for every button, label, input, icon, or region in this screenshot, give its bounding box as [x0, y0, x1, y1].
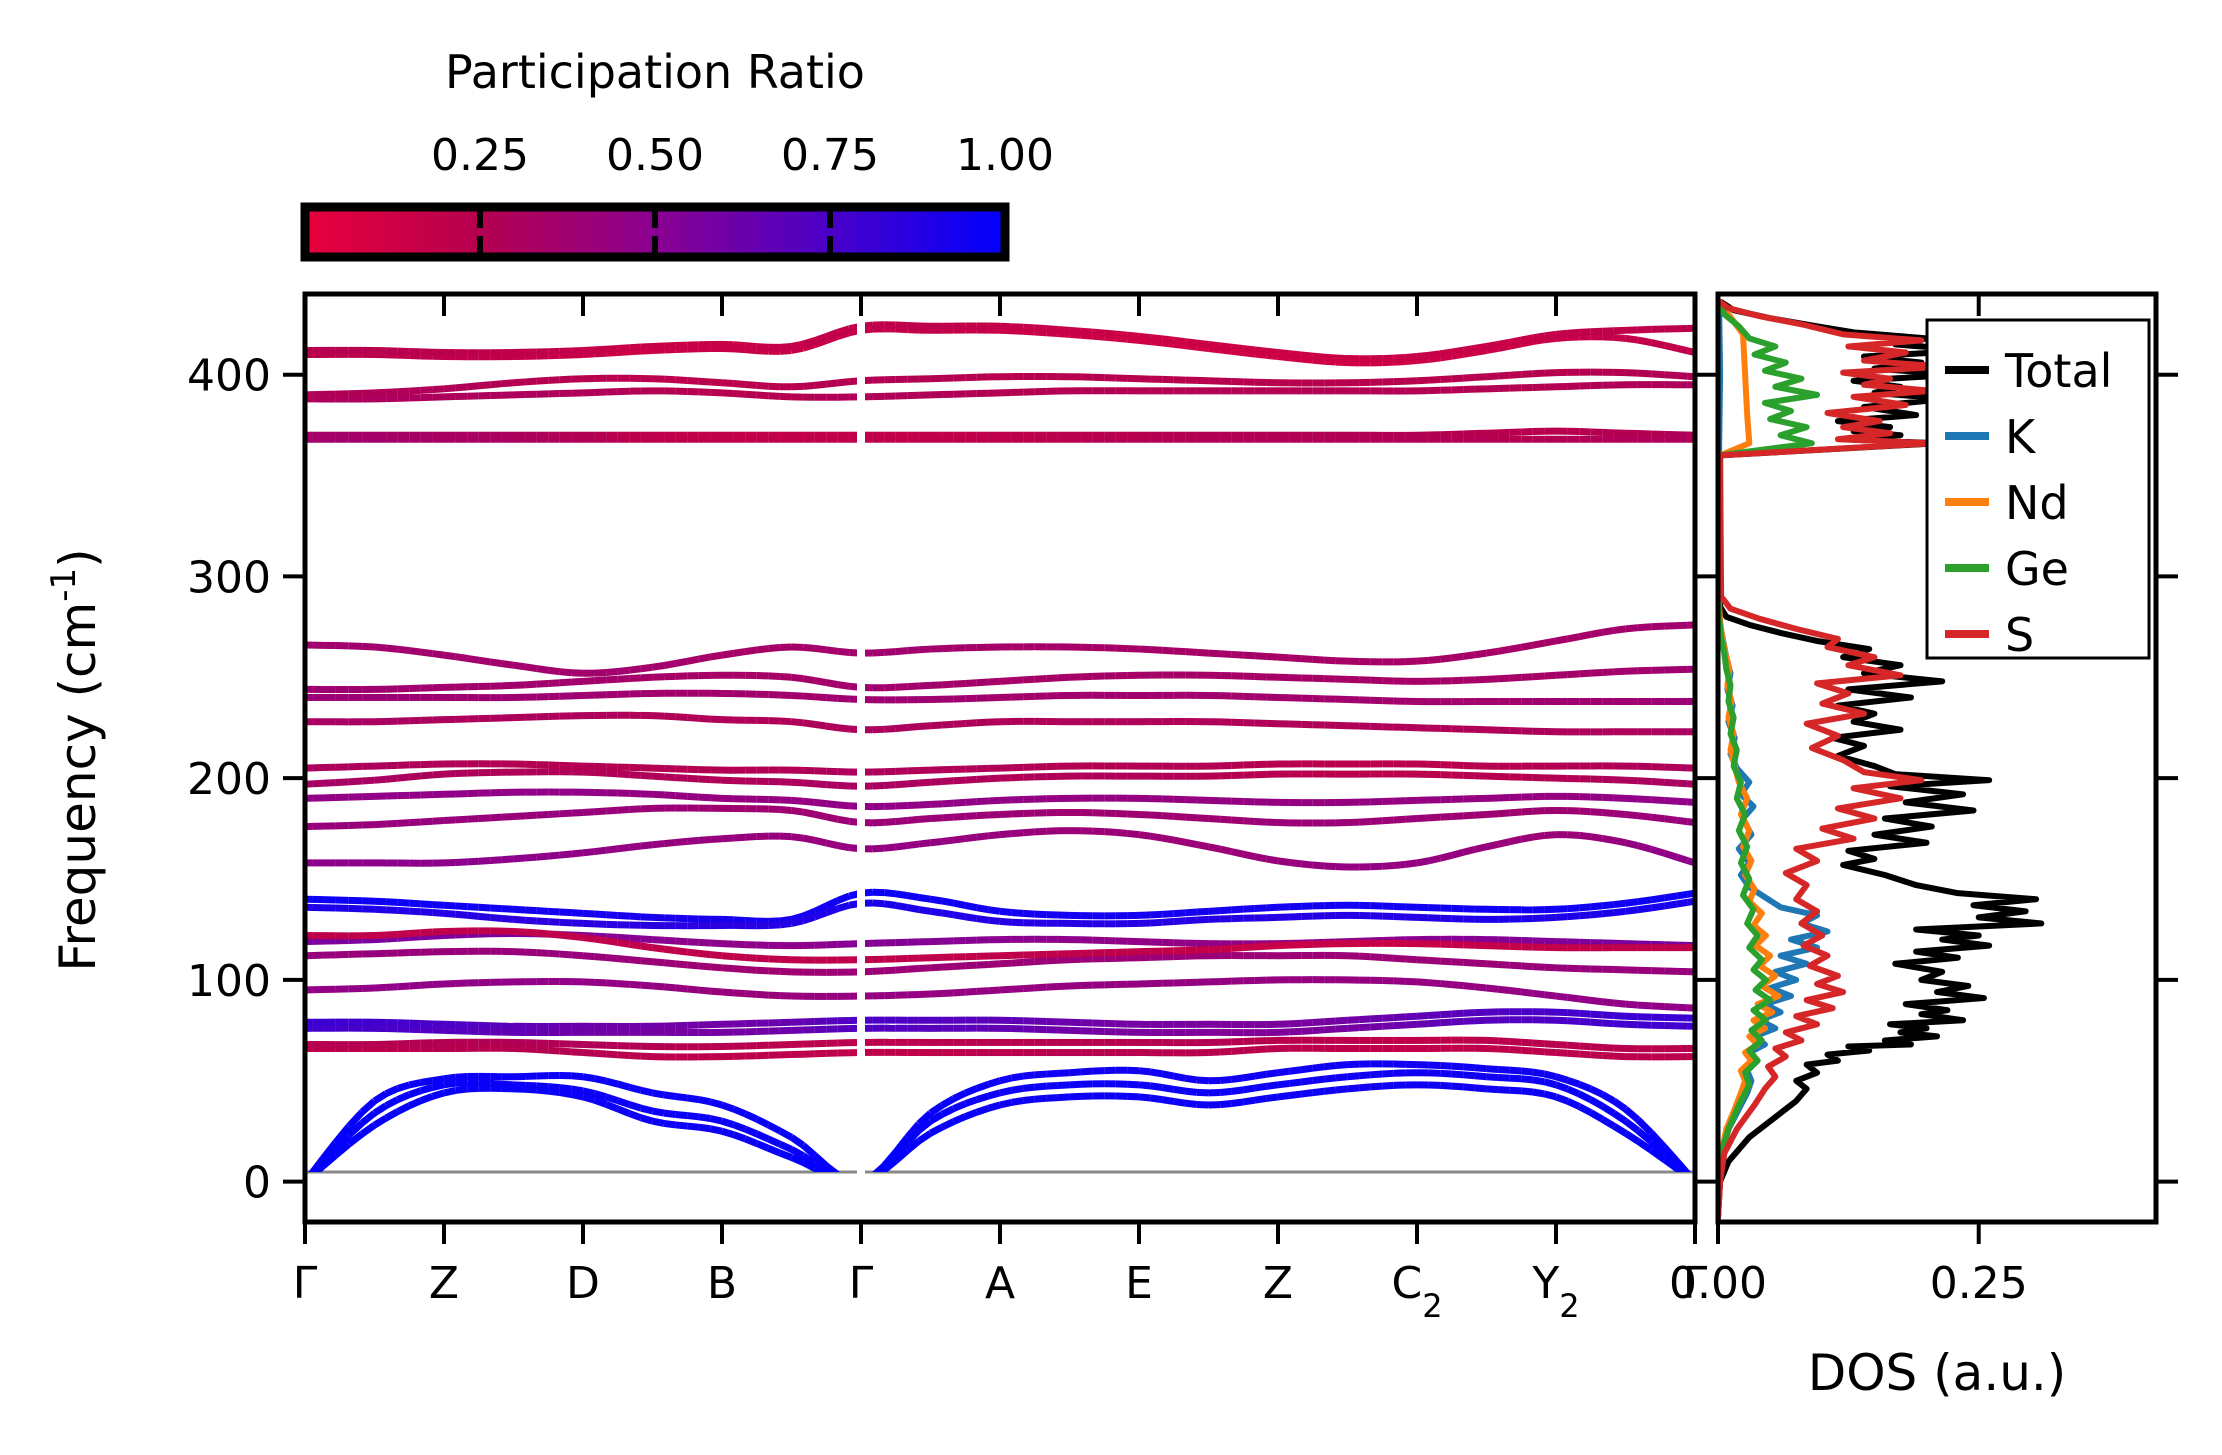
- band-segment: [1475, 963, 1487, 964]
- band-segment: [734, 1125, 746, 1129]
- band-segment: [838, 896, 850, 901]
- band-segment: [375, 647, 387, 648]
- band-segment: [1521, 1042, 1533, 1043]
- band-segment: [965, 991, 977, 992]
- band-segment: [1521, 811, 1533, 812]
- band-segment: [1151, 650, 1163, 651]
- band-segment: [1255, 656, 1267, 657]
- band-segment: [745, 384, 757, 385]
- band-segment: [467, 386, 479, 387]
- legend-label-ge: Ge: [2005, 542, 2069, 596]
- band-segment: [1266, 907, 1278, 908]
- band-segment: [1070, 330, 1082, 331]
- band-segment: [954, 915, 966, 917]
- band-segment: [1290, 1094, 1302, 1095]
- band-segment: [1665, 904, 1677, 906]
- band-segment: [1429, 983, 1441, 984]
- band-segment: [826, 650, 838, 651]
- band-segment: [954, 903, 966, 905]
- band-segment: [1382, 820, 1394, 821]
- band-segment: [977, 779, 989, 780]
- band-segment: [583, 938, 595, 939]
- band-segment: [1638, 1005, 1651, 1006]
- band-segment: [757, 347, 769, 348]
- band-segment: [432, 984, 444, 985]
- band-segment: [1035, 987, 1047, 988]
- band-segment: [734, 957, 746, 958]
- band-segment: [525, 684, 537, 685]
- band-segment: [757, 1143, 769, 1148]
- band-segment: [1139, 835, 1151, 837]
- band-segment: [1255, 1098, 1267, 1100]
- band-segment: [780, 1153, 792, 1157]
- band-segment: [595, 1100, 607, 1104]
- band-segment: [1591, 1022, 1603, 1023]
- band-segment: [467, 819, 479, 820]
- band-segment: [1556, 1077, 1568, 1081]
- band-segment: [444, 655, 456, 657]
- band-segment: [560, 379, 572, 380]
- band-segment: [1058, 986, 1070, 987]
- band-segment: [514, 909, 526, 910]
- band-segment: [1070, 1096, 1082, 1097]
- band-segment: [1429, 817, 1441, 818]
- band-segment: [1417, 960, 1429, 961]
- band-segment: [1626, 780, 1638, 781]
- band-segment: [1278, 353, 1290, 354]
- band-segment: [1348, 1088, 1360, 1089]
- band-segment: [1463, 377, 1475, 378]
- band-segment: [409, 822, 421, 823]
- band-segment: [571, 681, 583, 682]
- band-segment: [1417, 982, 1429, 983]
- band-segment: [896, 687, 908, 688]
- band-segment: [1463, 348, 1475, 350]
- band-segment: [1510, 1070, 1522, 1071]
- band-segment: [409, 933, 421, 934]
- band-segment: [1058, 329, 1070, 330]
- band-segment: [1475, 987, 1487, 988]
- band-segment: [444, 1077, 456, 1079]
- band-segment: [977, 908, 989, 910]
- legend-label-s: S: [2005, 608, 2034, 662]
- band-segment: [548, 1087, 560, 1088]
- band-segment: [1475, 1076, 1487, 1077]
- band-segment: [514, 665, 526, 667]
- band-segment: [375, 901, 387, 902]
- band-segment: [907, 783, 919, 784]
- band-segment: [1185, 1091, 1197, 1092]
- band-segment: [409, 390, 421, 391]
- band-segment: [1510, 1050, 1522, 1051]
- band-segment: [1023, 832, 1035, 833]
- band-segment: [1185, 1103, 1197, 1104]
- band-segment: [687, 952, 699, 953]
- band-segment: [595, 914, 607, 915]
- band-segment: [931, 725, 943, 726]
- band-segment: [595, 349, 607, 350]
- band-segment: [676, 380, 688, 381]
- band-segment: [398, 910, 410, 911]
- band-segment: [583, 1077, 595, 1079]
- band-segment: [1487, 344, 1499, 346]
- band-segment: [1023, 679, 1035, 680]
- band-segment: [432, 821, 444, 822]
- band-segment: [606, 937, 618, 938]
- band-segment: [1521, 677, 1533, 678]
- dos-x-tick-label: 0.25: [1930, 1258, 2028, 1309]
- band-segment: [1626, 814, 1638, 815]
- band-segment: [664, 795, 676, 796]
- band-segment: [560, 1088, 572, 1089]
- band-segment: [1487, 1089, 1499, 1090]
- band-segment: [606, 810, 618, 811]
- band-segment: [1452, 852, 1464, 855]
- band-segment: [664, 949, 676, 950]
- band-segment: [1197, 1080, 1209, 1081]
- band-segment: [1568, 1101, 1580, 1106]
- band-segment: [1429, 1015, 1441, 1016]
- band-segment: [1394, 864, 1406, 865]
- band-segment: [1544, 1052, 1556, 1053]
- band-segment: [618, 809, 630, 810]
- band-segment: [687, 942, 699, 943]
- band-segment: [710, 382, 722, 383]
- band-segment: [1220, 819, 1232, 820]
- band-segment: [838, 329, 850, 333]
- band-segment: [1429, 858, 1441, 861]
- band-segment: [606, 983, 618, 984]
- band-segment: [1510, 374, 1522, 375]
- band-segment: [1046, 1073, 1058, 1074]
- band-segment: [1093, 332, 1105, 333]
- band-segment: [1510, 647, 1522, 649]
- band-segment: [803, 838, 815, 840]
- band-segment: [1417, 380, 1429, 381]
- band-segment: [467, 1088, 479, 1089]
- band-segment: [514, 685, 526, 686]
- band-segment: [444, 388, 456, 389]
- band-segment: [1278, 861, 1290, 863]
- band-segment: [1336, 1028, 1348, 1029]
- band-segment: [1139, 336, 1151, 337]
- band-segment: [1510, 677, 1522, 678]
- band-segment: [456, 906, 468, 907]
- band-segment: [490, 917, 502, 918]
- band-segment: [803, 679, 815, 681]
- band-segment: [803, 917, 815, 921]
- band-segment: [1220, 910, 1232, 911]
- band-segment: [1665, 626, 1677, 627]
- band-segment: [1232, 820, 1244, 821]
- band-segment: [1440, 1014, 1452, 1015]
- band-segment: [1023, 962, 1035, 963]
- band-segment: [1046, 960, 1058, 961]
- band-segment: [942, 913, 954, 915]
- band-segment: [768, 648, 780, 649]
- band-segment: [734, 384, 746, 385]
- band-segment: [1544, 334, 1556, 336]
- band-segment: [1440, 1073, 1452, 1074]
- band-segment: [1602, 1002, 1614, 1003]
- band-segment: [710, 798, 722, 799]
- band-segment: [1429, 659, 1441, 660]
- band-segment: [745, 969, 757, 970]
- band-segment: [954, 839, 966, 840]
- band-segment: [1475, 679, 1487, 680]
- band-segment: [1000, 1078, 1012, 1081]
- band-segment: [768, 995, 780, 996]
- band-segment: [1104, 333, 1116, 334]
- band-segment: [1046, 678, 1058, 679]
- band-segment: [560, 813, 572, 814]
- band-segment: [583, 1097, 595, 1100]
- colorbar-tick-label: 0.25: [431, 130, 529, 181]
- band-segment: [803, 812, 815, 814]
- band-segment: [421, 985, 433, 986]
- band-segment: [571, 955, 583, 956]
- band-segment: [664, 963, 676, 964]
- band-segment: [977, 1108, 989, 1112]
- band-segment: [1174, 651, 1186, 652]
- band-segment: [803, 385, 815, 386]
- band-segment: [965, 1112, 977, 1116]
- band-segment: [687, 659, 699, 661]
- band-segment: [1591, 906, 1603, 907]
- band-segment: [1197, 911, 1209, 912]
- band-segment: [335, 782, 348, 783]
- band-segment: [757, 970, 769, 971]
- band-segment: [1232, 852, 1244, 855]
- dos-x-tick-label: 0.00: [1669, 1258, 1767, 1309]
- band-segment: [722, 956, 734, 957]
- band-segment: [490, 817, 502, 818]
- band-segment: [1463, 815, 1475, 816]
- band-ylabel: Frequency (cm-1): [44, 548, 107, 971]
- band-segment: [687, 1126, 699, 1127]
- band-segment: [421, 652, 433, 654]
- band-segment: [1533, 373, 1545, 374]
- band-segment: [1405, 819, 1417, 820]
- band-segment: [1498, 989, 1510, 990]
- band-segment: [1440, 984, 1452, 985]
- band-segment: [792, 722, 804, 723]
- band-segment: [1185, 842, 1197, 844]
- band-segment: [1359, 1087, 1371, 1088]
- band-segment: [571, 1076, 583, 1077]
- band-segment: [1232, 1102, 1244, 1104]
- band-segment: [988, 800, 1000, 801]
- band-x-tick-label: B: [707, 1258, 737, 1309]
- band-segment: [1475, 1088, 1487, 1089]
- band-segment: [803, 647, 815, 648]
- band-segment: [618, 1084, 630, 1087]
- band-segment: [525, 910, 537, 911]
- band-segment: [1463, 1087, 1475, 1088]
- band-segment: [1533, 1043, 1545, 1044]
- band-segment: [1371, 957, 1383, 958]
- band-segment: [1521, 1050, 1533, 1051]
- band-segment: [362, 780, 374, 781]
- band-segment: [1243, 1088, 1255, 1090]
- band-segment: [571, 673, 583, 674]
- band-segment: [1336, 358, 1348, 359]
- band-segment: [919, 819, 931, 820]
- band-segment: [815, 384, 827, 385]
- band-segment: [1023, 1075, 1035, 1076]
- band-segment: [710, 780, 722, 781]
- band-segment: [1665, 800, 1677, 801]
- band-segment: [873, 652, 885, 653]
- band-segment: [954, 992, 966, 993]
- band-segment: [1677, 801, 1687, 802]
- band-segment: [456, 914, 468, 915]
- band-segment: [1012, 327, 1024, 328]
- band-segment: [641, 917, 653, 918]
- band-segment: [502, 383, 514, 384]
- band-segment: [977, 1084, 989, 1088]
- band-segment: [1591, 1047, 1603, 1048]
- band-segment: [931, 841, 943, 842]
- band-segment: [1440, 658, 1452, 659]
- band-segment: [1429, 960, 1441, 961]
- band-segment: [710, 967, 722, 968]
- band-segment: [896, 325, 908, 326]
- band-segment: [1614, 1016, 1626, 1017]
- band-segment: [1544, 995, 1556, 996]
- band-segment: [1023, 1099, 1035, 1100]
- band-segment: [931, 911, 943, 913]
- band-segment: [1579, 1054, 1591, 1055]
- band-segment: [768, 959, 780, 960]
- band-segment: [456, 1083, 468, 1084]
- band-segment: [1301, 1068, 1313, 1070]
- band-segment: [1521, 645, 1533, 647]
- band-segment: [1174, 1076, 1186, 1078]
- band-segment: [490, 1083, 502, 1084]
- band-segment: [896, 651, 908, 652]
- band-segment: [490, 908, 502, 909]
- band-segment: [1591, 1055, 1603, 1056]
- band-segment: [479, 861, 491, 862]
- band-segment: [1452, 350, 1464, 352]
- band-segment: [548, 911, 560, 912]
- band-segment: [1313, 1030, 1325, 1031]
- band-segment: [710, 1102, 722, 1105]
- band-segment: [687, 718, 699, 719]
- band-segment: [1151, 338, 1163, 339]
- band-segment: [653, 350, 665, 351]
- band-segment: [1568, 1053, 1580, 1054]
- band-segment: [479, 1083, 491, 1084]
- band-segment: [687, 796, 699, 797]
- band-segment: [606, 1081, 618, 1084]
- band-segment: [641, 961, 653, 962]
- band-segment: [1665, 819, 1677, 821]
- band-segment: [1556, 1053, 1568, 1054]
- band-segment: [1209, 911, 1221, 912]
- band-segment: [583, 350, 595, 351]
- band-segment: [722, 1121, 734, 1125]
- band-segment: [942, 803, 954, 804]
- band-segment: [583, 852, 595, 853]
- band-x-tick-label: Γ: [849, 1258, 874, 1309]
- band-segment: [1602, 1056, 1614, 1057]
- band-segment: [838, 805, 850, 806]
- band-segment: [641, 946, 653, 948]
- band-segment: [919, 843, 931, 844]
- band-segment: [942, 901, 954, 903]
- band-segment: [629, 669, 641, 670]
- band-segment: [1440, 817, 1452, 818]
- band-segment: [699, 381, 711, 382]
- band-segment: [931, 782, 943, 783]
- band-segment: [896, 329, 908, 330]
- band-segment: [1313, 1079, 1325, 1080]
- band-segment: [606, 1104, 618, 1109]
- band-segment: [641, 667, 653, 669]
- band-segment: [977, 919, 989, 921]
- band-segment: [1243, 821, 1255, 822]
- band-segment: [595, 982, 607, 983]
- band-segment: [710, 1119, 722, 1122]
- band-segment: [803, 341, 815, 345]
- band-segment: [1487, 1069, 1499, 1070]
- band-segment: [1521, 1079, 1533, 1080]
- band-x-tick-label: Γ: [293, 1258, 318, 1309]
- band-segment: [1162, 922, 1174, 923]
- band-segment: [1626, 798, 1638, 799]
- band-segment: [1290, 658, 1302, 659]
- band-segment: [1498, 813, 1510, 814]
- band-segment: [525, 1049, 537, 1050]
- band-segment: [1035, 961, 1047, 962]
- band-segment: [1405, 357, 1417, 358]
- band-segment: [734, 652, 746, 654]
- band-segment: [1602, 672, 1614, 673]
- band-segment: [641, 1118, 653, 1121]
- band-segment: [1359, 956, 1371, 957]
- band-segment: [641, 985, 653, 986]
- band-segment: [1348, 1076, 1360, 1077]
- band-segment: [1429, 1065, 1441, 1066]
- band-segment: [1452, 1074, 1464, 1075]
- band-segment: [664, 1113, 676, 1114]
- band-segment: [965, 917, 977, 919]
- band-segment: [734, 1109, 746, 1114]
- band-segment: [780, 810, 792, 811]
- band-segment: [502, 909, 514, 910]
- band-segment: [479, 818, 491, 819]
- band-segment: [826, 804, 838, 805]
- band-segment: [1568, 1089, 1580, 1094]
- band-segment: [1665, 896, 1677, 898]
- band-segment: [1568, 908, 1580, 909]
- band-segment: [919, 685, 931, 686]
- band-x-tick-label: A: [985, 1258, 1015, 1309]
- band-segment: [1035, 328, 1047, 329]
- band-segment: [1602, 337, 1614, 338]
- band-segment: [710, 943, 722, 944]
- band-segment: [444, 1090, 456, 1092]
- band-segment: [1162, 816, 1174, 817]
- band-segment: [1313, 356, 1325, 357]
- band-segment: [618, 774, 630, 775]
- band-segment: [409, 1083, 421, 1085]
- band-segment: [884, 729, 896, 730]
- band-segment: [1626, 902, 1638, 904]
- band-segment: [653, 1093, 665, 1095]
